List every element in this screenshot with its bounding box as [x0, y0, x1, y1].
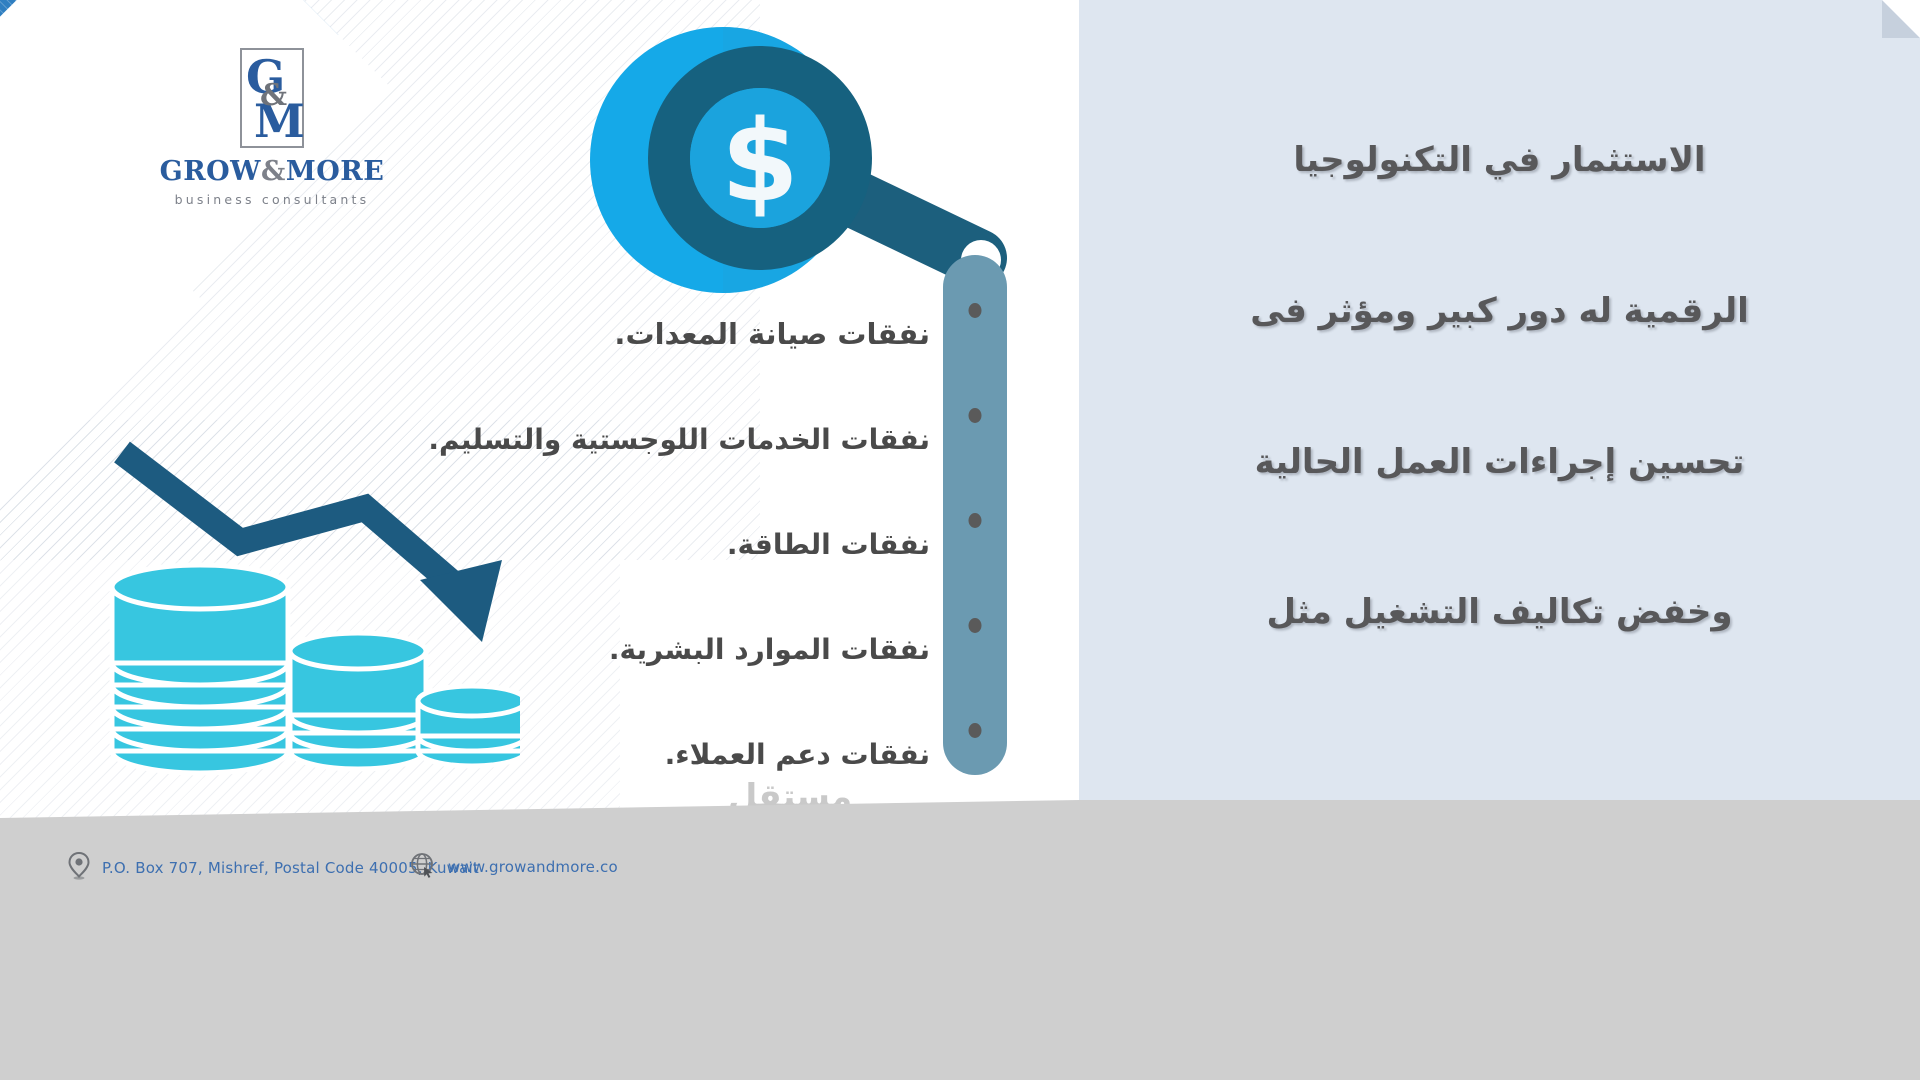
- panel-line-2: الرقمية له دور كبير ومؤثر فى: [1079, 291, 1920, 332]
- footer-website-text: www.growandmore.co: [448, 858, 618, 876]
- footer-bar: P.O. Box 707, Mishref, Postal Code 40005…: [0, 800, 1920, 1080]
- list-item: نفقات الموارد البشرية.: [290, 597, 930, 702]
- panel-line-4: وخفض تكاليف التشغيل مثل: [1079, 592, 1920, 633]
- bullet-dot: [969, 408, 982, 423]
- bullet-dot: [969, 618, 982, 633]
- list-item: نفقات الخدمات اللوجستية والتسليم.: [290, 387, 930, 492]
- logo-tagline: business consultants: [152, 192, 392, 207]
- slide-canvas: G M & GROW&MORE business consultants: [0, 0, 1920, 1080]
- bullet-track-bar: [943, 255, 1007, 775]
- logo-wordmark-left: GROW: [160, 156, 261, 187]
- list-item: نفقات دعم العملاء.: [290, 702, 930, 807]
- right-text-panel: الاستثمار في التكنولوجيا الرقمية له دور …: [1079, 0, 1920, 800]
- company-logo: G M & GROW&MORE business consultants: [152, 48, 392, 207]
- bullet-dot: [969, 513, 982, 528]
- list-item: نفقات صيانة المعدات.: [290, 282, 930, 387]
- logo-wordmark: GROW&MORE: [152, 156, 392, 187]
- list-item: نفقات الطاقة.: [290, 492, 930, 597]
- logo-monogram-icon: G M &: [240, 48, 304, 148]
- panel-line-3: تحسين إجراءات العمل الحالية: [1079, 442, 1920, 483]
- panel-corner-fold: [1882, 0, 1920, 38]
- bullet-dot: [969, 303, 982, 318]
- svg-text:$: $: [721, 97, 799, 227]
- panel-paragraph: الاستثمار في التكنولوجيا الرقمية له دور …: [1079, 140, 1920, 633]
- footer-website[interactable]: www.growandmore.co: [410, 852, 618, 882]
- footer-content: P.O. Box 707, Mishref, Postal Code 40005…: [0, 830, 1920, 950]
- expense-bullet-list: نفقات صيانة المعدات. نفقات الخدمات اللوج…: [290, 282, 930, 807]
- logo-wordmark-amp: &: [261, 156, 286, 187]
- globe-cursor-icon: [410, 852, 436, 882]
- location-pin-icon: [68, 852, 90, 884]
- panel-line-1: الاستثمار في التكنولوجيا: [1079, 140, 1920, 181]
- logo-wordmark-right: MORE: [286, 156, 384, 187]
- logo-ampersand: &: [260, 81, 287, 111]
- bullet-dot: [969, 723, 982, 738]
